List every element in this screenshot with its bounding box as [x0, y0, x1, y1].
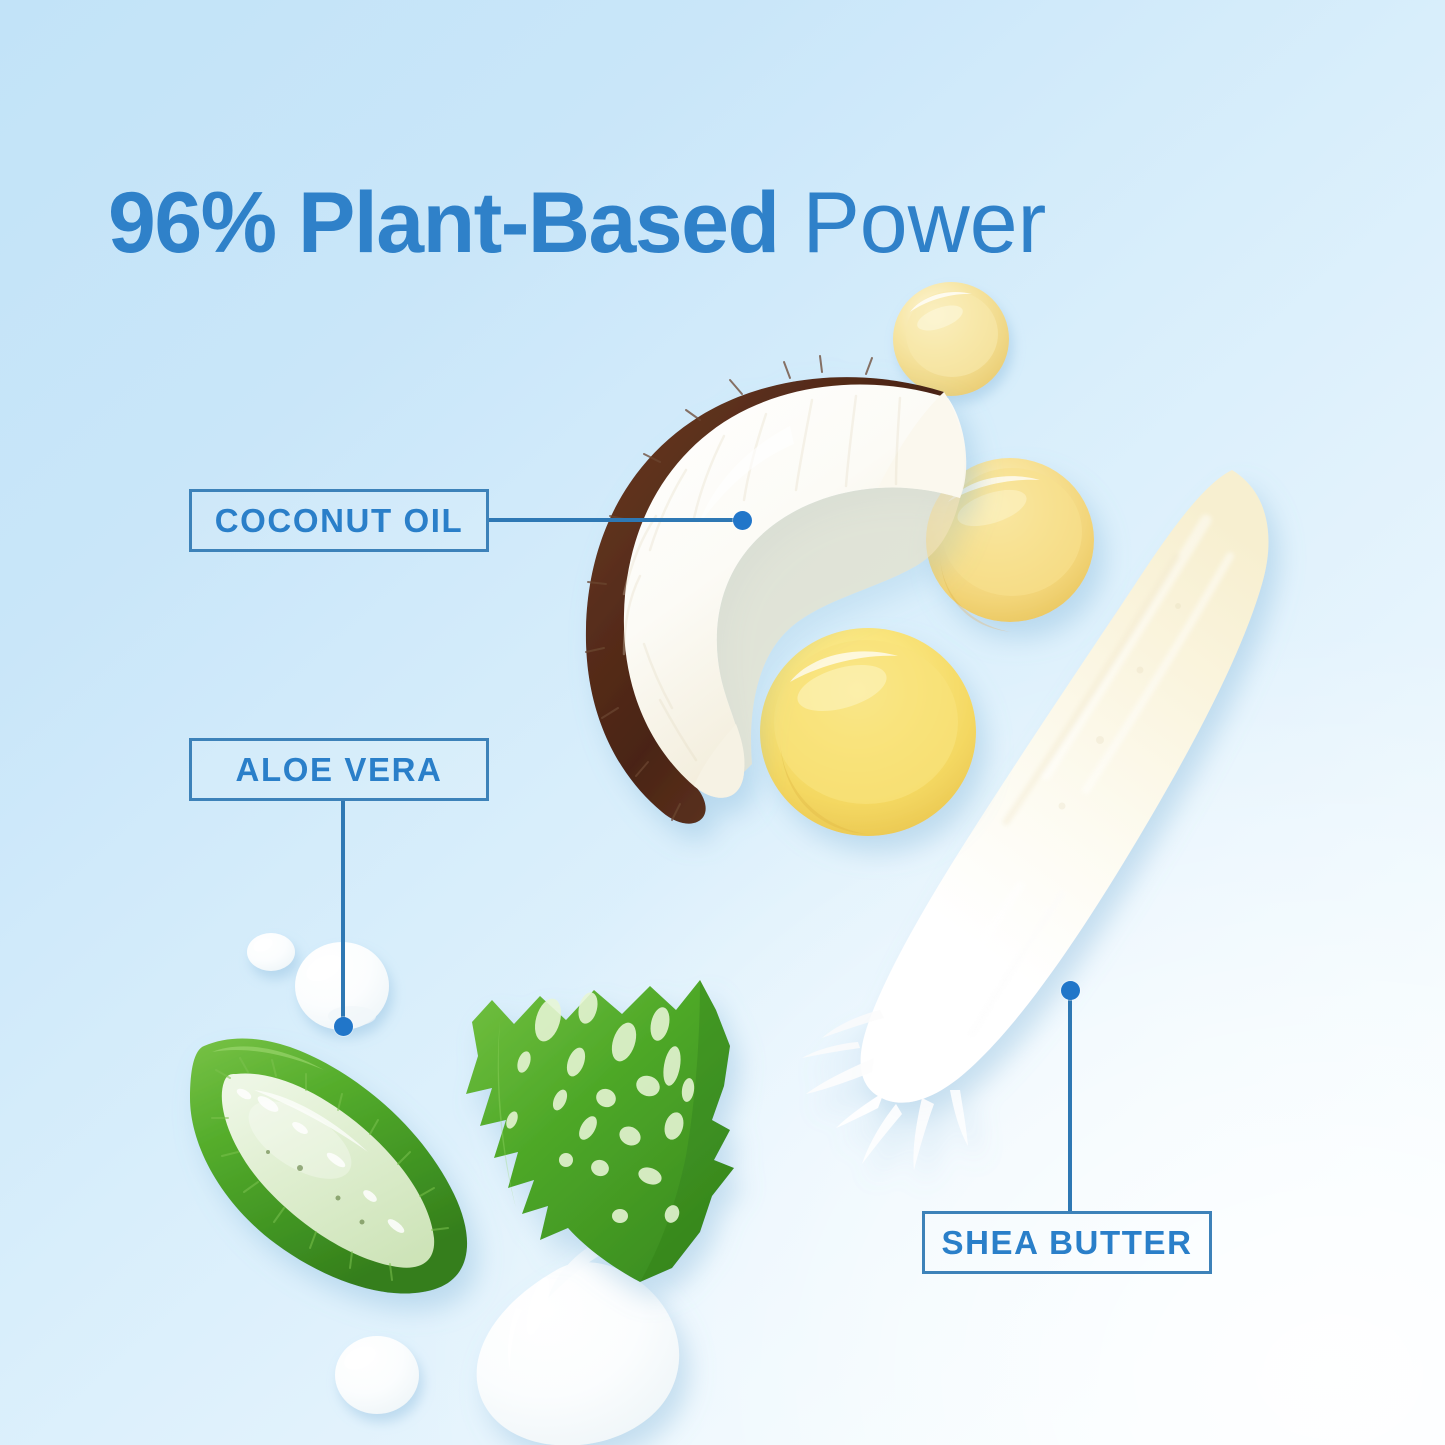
- leader-line-coconut: [489, 518, 743, 522]
- callout-label-coconut-oil: COCONUT OIL: [215, 502, 464, 540]
- leader-dot-coconut: [733, 511, 752, 530]
- leader-dot-aloe: [334, 1017, 353, 1036]
- callout-coconut-oil[interactable]: COCONUT OIL: [189, 489, 489, 552]
- leader-line-shea: [1068, 992, 1072, 1214]
- oil-droplet-small: [893, 282, 1009, 396]
- title-strong: 96% Plant-Based: [108, 175, 779, 271]
- callout-label-shea-butter: SHEA BUTTER: [941, 1224, 1192, 1262]
- aloe-filet-piece: [190, 1038, 467, 1293]
- leader-dot-shea: [1061, 981, 1080, 1000]
- aloe-gel-drop-small-lower: [335, 1336, 419, 1414]
- aloe-skin-piece: [466, 980, 734, 1282]
- title-light: Power: [779, 175, 1047, 271]
- infographic-canvas: 96% Plant-Based Power COCONUT OIL ALOE V…: [0, 0, 1445, 1445]
- oil-droplet-large: [760, 628, 976, 836]
- callout-shea-butter[interactable]: SHEA BUTTER: [922, 1211, 1212, 1274]
- callout-aloe-vera[interactable]: ALOE VERA: [189, 738, 489, 801]
- leader-line-aloe: [341, 800, 345, 1028]
- page-title: 96% Plant-Based Power: [108, 180, 1046, 266]
- callout-label-aloe-vera: ALOE VERA: [236, 751, 443, 789]
- aloe-gel-drop-small-upper: [247, 933, 295, 971]
